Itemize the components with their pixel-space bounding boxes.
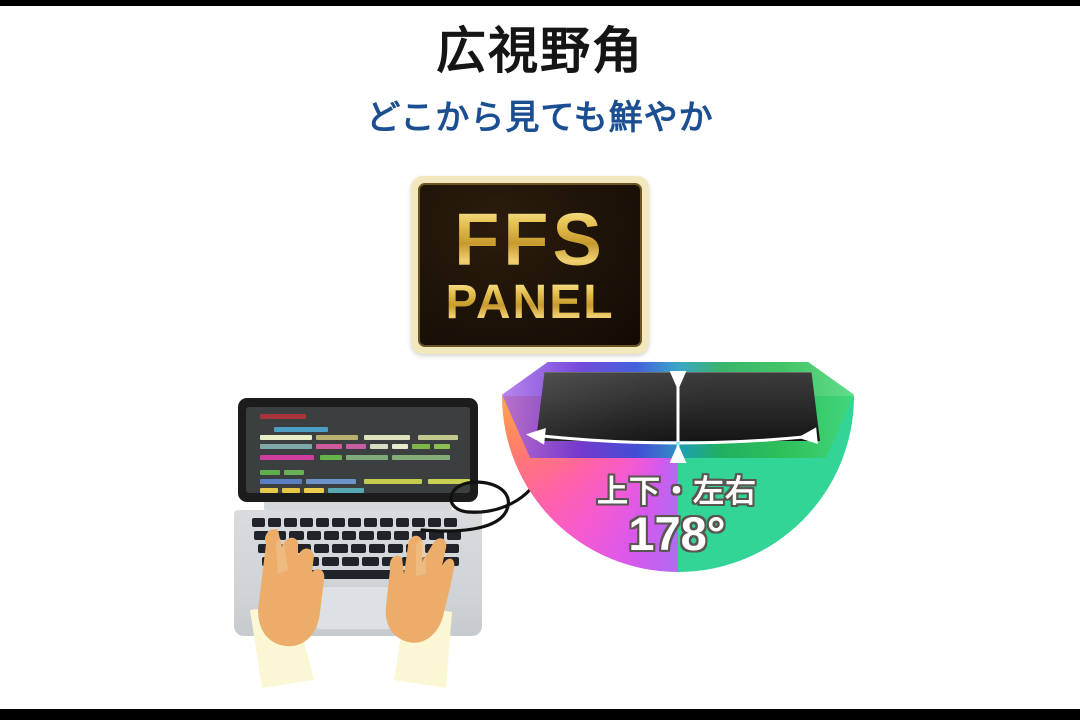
viewing-angle-label-degrees: 178° (494, 510, 860, 557)
viewing-angle-label: 上下・左右 178° (494, 476, 860, 557)
left-hand (258, 529, 324, 646)
badge-title-panel: PANEL (445, 279, 614, 327)
monitor-panel (536, 372, 820, 441)
letterbox-top (0, 0, 1080, 6)
page-subtitle: どこから見ても鮮やか (0, 100, 1080, 137)
page-title: 広視野角 (0, 24, 1080, 78)
slide-canvas: 広視野角 どこから見ても鮮やか FFS PANEL (0, 0, 1080, 720)
badge-title-ffs: FFS (454, 203, 606, 277)
viewing-angle-diagram: 上下・左右 178° (494, 358, 860, 620)
letterbox-bottom (0, 709, 1080, 720)
ffs-panel-badge: FFS PANEL (411, 176, 649, 354)
monitor-gloss (536, 373, 820, 441)
ffs-panel-badge-inner: FFS PANEL (418, 183, 642, 347)
viewing-angle-label-axes: 上下・左右 (494, 476, 860, 507)
